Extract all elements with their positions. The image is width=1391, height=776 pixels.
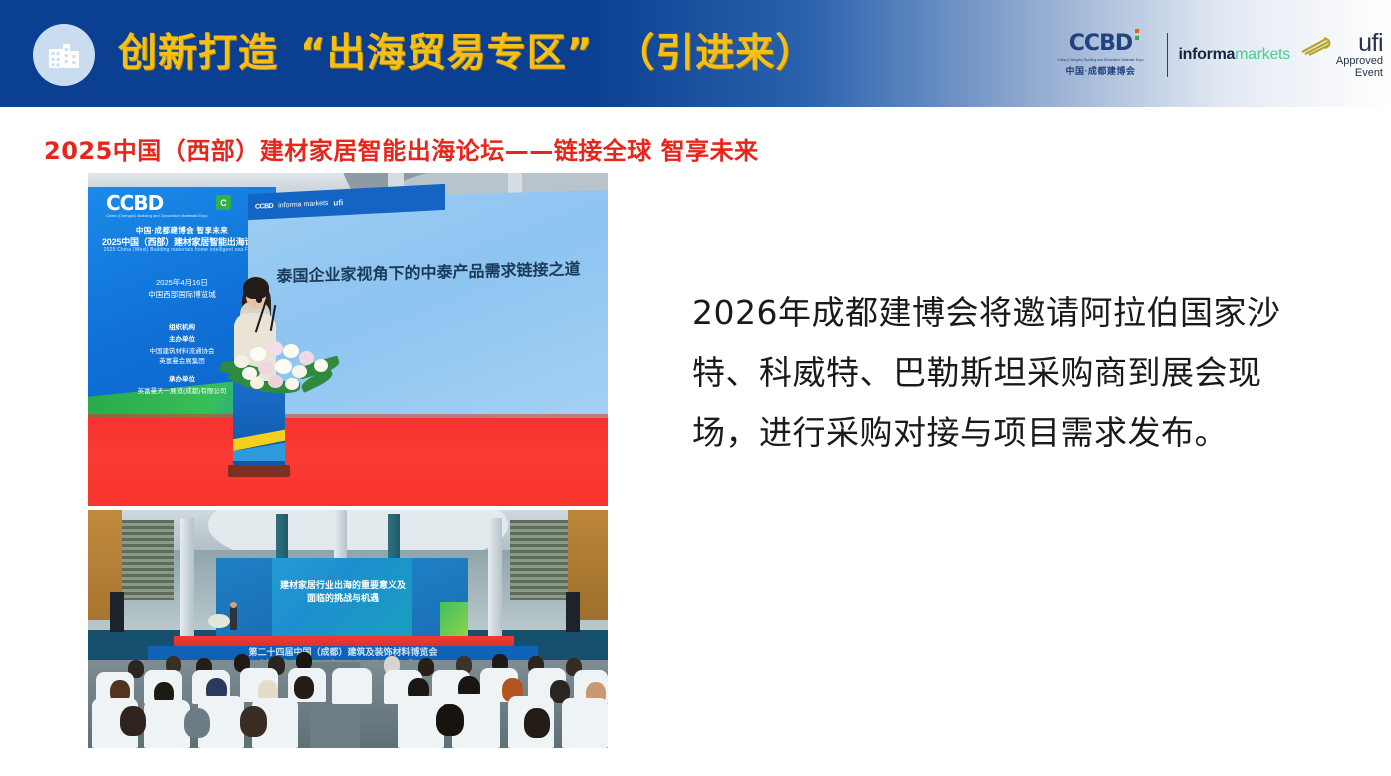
ufi-event-label: Event: [1355, 67, 1383, 79]
ufi-approved-event-logo: ufi Approved Event: [1300, 32, 1383, 79]
ccbd-logo-mark: CCBD: [1069, 33, 1132, 55]
slide-header: 创新打造“出海贸易专区”（引进来） CCBD China (Chengdu) B…: [0, 0, 1391, 107]
audience-head: [294, 676, 314, 699]
ccbd-dot-green-icon: [1135, 36, 1139, 40]
flower: [234, 355, 249, 368]
ccbd-logo-chinese: 中国·成都建博会: [1065, 64, 1135, 77]
screen-ccbd-mark: CCBD: [255, 202, 273, 210]
flower: [275, 359, 292, 374]
flower: [266, 341, 283, 356]
flower: [285, 378, 299, 390]
podium-base: [228, 465, 290, 477]
screen-green-accent: [440, 602, 468, 636]
ccbd-logo: CCBD China (Chengdu) Building and Decora…: [1057, 33, 1155, 77]
backdrop-green-badge: C: [216, 195, 231, 210]
flower-arrangement: [220, 333, 340, 395]
slide-root: 创新打造“出海贸易专区”（引进来） CCBD China (Chengdu) B…: [0, 0, 1391, 776]
wall-grille-left: [122, 520, 174, 600]
audience-chair: [332, 668, 372, 704]
forum-speaker-photo: CCBD China (Chengdu) Building and Decora…: [88, 173, 608, 506]
stage-presenter-body: [230, 606, 237, 630]
hall-column: [334, 510, 347, 562]
markets-word: markets: [1235, 46, 1290, 63]
audience-head: [436, 704, 464, 736]
logo-divider: [1167, 33, 1168, 77]
ccbd-dot-orange-icon: [1135, 29, 1139, 33]
pa-speaker-left: [110, 592, 124, 632]
flower: [250, 377, 264, 389]
informa-markets-logo: informamarkets: [1179, 46, 1290, 64]
audience-head: [524, 708, 550, 738]
forum-subtitle: 2025中国（西部）建材家居智能出海论坛——链接全球 智享未来: [44, 131, 759, 166]
informa-word: informa: [1179, 46, 1236, 63]
flower: [268, 375, 283, 388]
hall-column: [488, 518, 502, 638]
audience-head: [120, 706, 146, 736]
screen-ufi-mark: ufi: [333, 198, 343, 208]
header-logo-group: CCBD China (Chengdu) Building and Decora…: [1057, 24, 1383, 86]
flower: [283, 344, 299, 358]
hall-column: [180, 518, 194, 638]
audience-screen-title: 建材家居行业出海的重要意义及面临的挑战与机遇: [278, 580, 408, 606]
slide-title: 创新打造“出海贸易专区”（引进来）: [118, 28, 815, 80]
slide-title-part3: （引进来）: [615, 31, 815, 76]
flower: [258, 361, 274, 375]
microphone-head: [256, 295, 262, 303]
ufi-approved-label: Approved: [1336, 55, 1383, 67]
ufi-swoosh-icon: [1300, 36, 1334, 61]
backdrop-ccbd-mark: CCBD: [106, 191, 163, 215]
flower: [292, 365, 307, 378]
factory-building-icon: [33, 24, 95, 86]
wall-grille-right: [510, 520, 568, 600]
stage-flowers: [208, 614, 230, 628]
body-paragraph: 2026年成都建博会将邀请阿拉伯国家沙特、科威特、巴勒斯坦采购商到展会现场，进行…: [692, 283, 1292, 463]
audience-head: [240, 706, 267, 737]
screen-informa-mark: informa markets: [278, 199, 328, 209]
flower: [314, 359, 328, 372]
pa-speaker-right: [566, 592, 580, 632]
stage-presenter-head: [230, 602, 237, 608]
flower: [250, 347, 266, 361]
slide-title-part2: “出海贸易专区”: [300, 31, 593, 76]
forum-audience-photo: 建材家居行业出海的重要意义及面临的挑战与机遇 第二十四届中国（成都）建筑及装饰材…: [88, 510, 608, 748]
ufi-wordmark: ufi: [1358, 32, 1383, 55]
ccbd-logo-english: China (Chengdu) Building and Decoration …: [1057, 58, 1143, 62]
stage-red-carpet: [88, 418, 608, 506]
audience-head: [184, 708, 210, 738]
flower: [299, 351, 314, 365]
slide-title-part1: 创新打造: [118, 31, 278, 76]
audience-chair: [562, 698, 608, 748]
backdrop-ccbd-english: China (Chengdu) Building and Decoration …: [106, 213, 208, 218]
